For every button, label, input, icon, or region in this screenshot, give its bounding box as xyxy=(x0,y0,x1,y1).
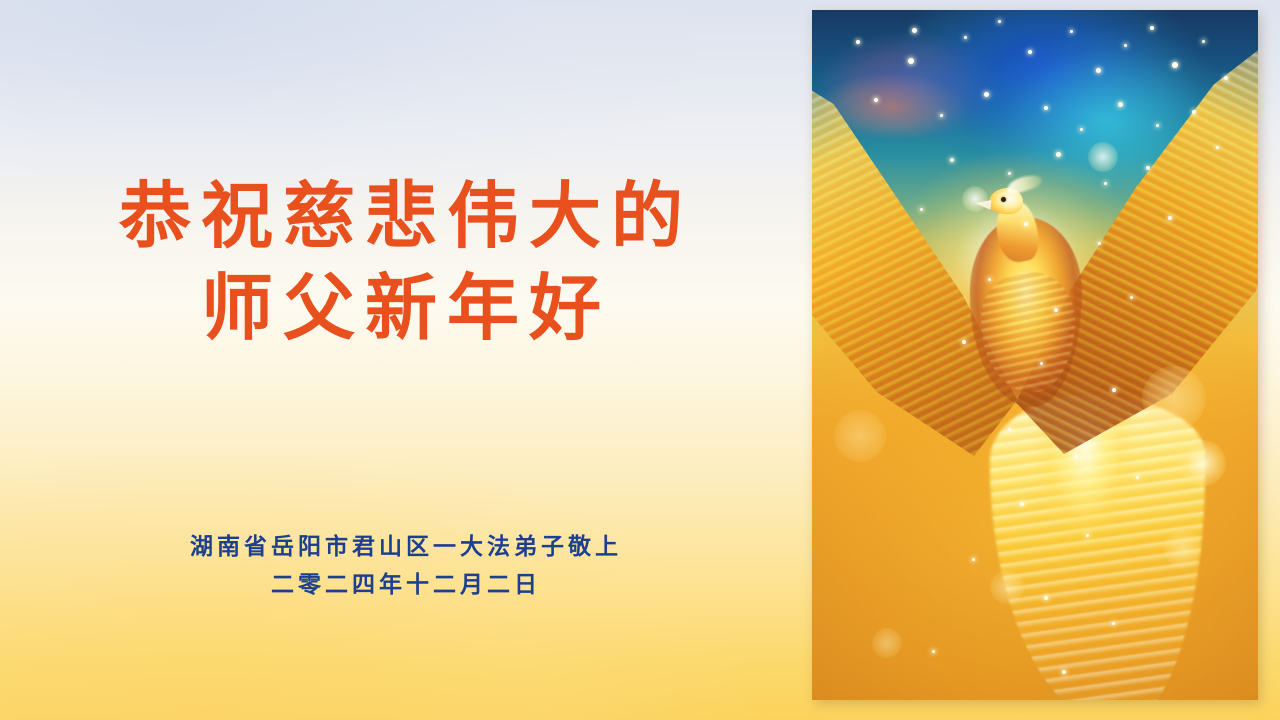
sparkle xyxy=(1074,454,1078,458)
sparkle xyxy=(1056,152,1061,157)
sparkle xyxy=(984,92,989,97)
sparkle xyxy=(1130,296,1133,299)
sparkle xyxy=(932,650,935,653)
headline-block: 恭祝慈悲伟大的 师父新年好 xyxy=(0,170,812,354)
sparkle xyxy=(908,58,914,64)
sparkle xyxy=(1040,362,1043,365)
sparkle xyxy=(998,20,1001,23)
sparkle xyxy=(1112,388,1116,392)
sparkle xyxy=(920,208,923,211)
sparkle xyxy=(1024,222,1028,226)
text-column: 恭祝慈悲伟大的 师父新年好 湖南省岳阳市君山区一大法弟子敬上 二零二四年十二月二… xyxy=(0,0,812,720)
sparkle xyxy=(964,36,967,39)
sparkle xyxy=(1044,596,1048,600)
sparkle xyxy=(1216,146,1219,149)
phoenix-beak xyxy=(975,198,992,210)
sparkle xyxy=(1192,110,1196,114)
sparkle xyxy=(1008,428,1011,431)
sparkle xyxy=(1008,172,1011,175)
sparkle xyxy=(1112,622,1115,625)
sparkle xyxy=(1080,128,1083,131)
phoenix-artwork-panel xyxy=(812,10,1258,700)
signature-date: 二零二四年十二月二日 xyxy=(0,566,812,604)
sparkle xyxy=(1020,502,1024,506)
sparkle xyxy=(940,114,943,117)
sparkle xyxy=(1096,68,1101,73)
sparkle xyxy=(1202,40,1205,43)
sparkle xyxy=(1098,242,1101,245)
sparkle xyxy=(972,558,975,561)
signature-sender: 湖南省岳阳市君山区一大法弟子敬上 xyxy=(0,528,812,566)
sparkle xyxy=(1028,50,1032,54)
sparkle xyxy=(988,278,991,281)
sparkle xyxy=(1146,166,1150,170)
sparkle xyxy=(1136,476,1139,479)
signature-block: 湖南省岳阳市君山区一大法弟子敬上 二零二四年十二月二日 xyxy=(0,528,812,604)
sparkle xyxy=(950,158,954,162)
sparkle xyxy=(1044,106,1048,110)
sparkle xyxy=(1224,76,1228,80)
sparkle xyxy=(1086,534,1089,537)
sparkle xyxy=(1168,216,1172,220)
greeting-card-slide: 恭祝慈悲伟大的 师父新年好 湖南省岳阳市君山区一大法弟子敬上 二零二四年十二月二… xyxy=(0,0,1280,720)
sparkle xyxy=(1070,30,1073,33)
headline-line-1: 恭祝慈悲伟大的 xyxy=(0,170,812,262)
sparkle xyxy=(1104,182,1107,185)
sparkle xyxy=(856,40,860,44)
sparkle xyxy=(1124,44,1127,47)
sparkle xyxy=(1054,308,1058,312)
phoenix-eye xyxy=(1001,197,1006,202)
sparkle xyxy=(1118,102,1123,107)
sparkle xyxy=(912,28,917,33)
sparkle xyxy=(874,98,878,102)
sparkle xyxy=(1062,670,1066,674)
sparkle xyxy=(962,340,966,344)
sparkle xyxy=(1172,62,1178,68)
sparkle xyxy=(1156,124,1159,127)
headline-line-2: 师父新年好 xyxy=(0,262,812,354)
sparkle xyxy=(1150,26,1154,30)
